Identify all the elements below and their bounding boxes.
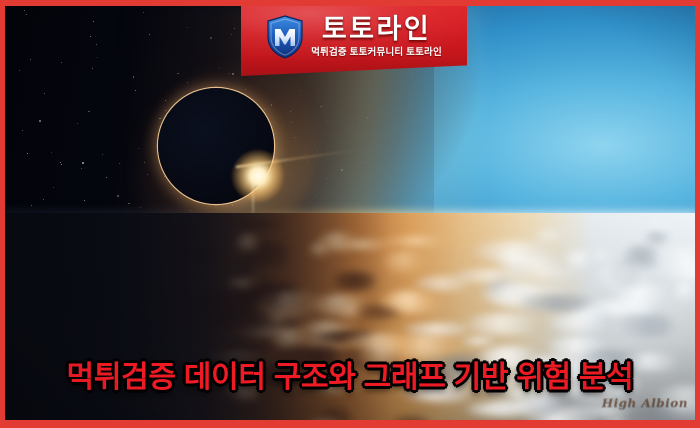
brand-logo[interactable]: 토토라인 먹튀검증 토토커뮤니티 토토라인 — [241, 8, 467, 66]
page-title: 먹튀검증 데이터 구조와 그래프 기반 위험 분석 — [0, 352, 700, 396]
frame-left — [0, 0, 5, 428]
brand-text-block: 토토라인 먹튀검증 토토커뮤니티 토토라인 — [311, 16, 442, 58]
brand-name: 토토라인 — [322, 16, 431, 43]
eclipse-flare — [232, 150, 284, 202]
shield-m-icon — [266, 15, 304, 59]
banner-image: 토토라인 먹튀검증 토토커뮤니티 토토라인 먹튀검증 데이터 구조와 그래프 기… — [0, 0, 700, 428]
frame-top — [0, 0, 700, 6]
brand-tagline: 먹튀검증 토토커뮤니티 토토라인 — [311, 48, 442, 58]
watermark: High Albion — [602, 397, 688, 410]
frame-right — [695, 0, 700, 428]
frame-bottom — [0, 420, 700, 428]
